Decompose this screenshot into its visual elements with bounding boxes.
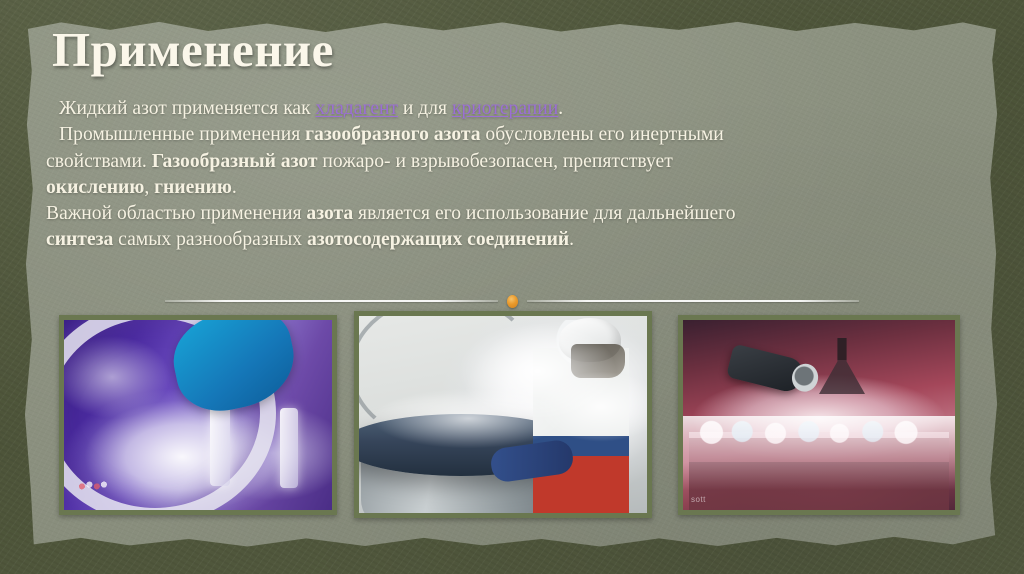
photo-1-image xyxy=(64,320,332,510)
line3-text-post: пожаро- и взрывобезопасен, препятствует xyxy=(318,151,673,172)
line6-text-mid: самых разнообразных xyxy=(113,229,307,250)
line4-text-mid: , xyxy=(144,177,154,198)
slide-content: Применение Жидкий азот применяется как х… xyxy=(0,0,1024,574)
body-line-3: свойствами. Газообразный азот пожаро- и … xyxy=(46,149,976,175)
line6-text-post: . xyxy=(569,229,574,250)
line4-emphasis-1: окислению xyxy=(46,177,144,198)
photo-nitrogen-cocktail-bar: sott xyxy=(678,315,960,515)
photo-1-watermark xyxy=(74,478,118,500)
body-line-4: окислению, гниению. xyxy=(46,175,976,201)
body-line-6: синтеза самых разнообразных азотосодержа… xyxy=(46,227,976,253)
line2-emphasis: газообразного азота xyxy=(305,124,480,145)
divider-rule-left xyxy=(165,300,498,302)
photo-3-image: sott xyxy=(683,320,955,510)
glass-flask xyxy=(819,338,865,394)
page-title: Применение xyxy=(52,24,334,75)
photo-liquid-nitrogen-pour xyxy=(59,315,337,515)
link-krioterapii[interactable]: криотерапии xyxy=(452,98,558,119)
test-tube-right xyxy=(280,408,298,488)
divider-dot-icon xyxy=(507,295,518,308)
line6-emphasis-2: азотосодержащих соединений xyxy=(307,229,569,250)
line6-emphasis-1: синтеза xyxy=(46,229,113,250)
line2-text-post: обусловлены его инертными xyxy=(481,124,724,145)
cocktail-glasses xyxy=(691,406,947,450)
line1-text-post: . xyxy=(558,98,563,119)
line1-text-mid: и для xyxy=(398,98,452,119)
line5-text-post: является его использование для дальнейше… xyxy=(353,203,735,224)
body-line-1: Жидкий азот применяется как хладагент и … xyxy=(46,96,976,122)
line3-emphasis: Газообразный азот xyxy=(152,151,318,172)
photo-2-image xyxy=(359,316,647,513)
line4-text-post: . xyxy=(232,177,237,198)
body-line-5: Важной областью применения азота являетс… xyxy=(46,201,976,227)
body-text: Жидкий азот применяется как хладагент и … xyxy=(46,96,976,254)
photo-3-watermark: sott xyxy=(691,495,706,504)
section-divider xyxy=(165,295,859,307)
face-visor xyxy=(571,344,625,378)
line4-emphasis-2: гниению xyxy=(154,177,232,198)
slide: Применение Жидкий азот применяется как х… xyxy=(0,0,1024,574)
nitrogen-canister xyxy=(726,344,806,395)
photo-industrial-cryo-tank xyxy=(354,311,652,518)
divider-rule-right xyxy=(527,300,860,302)
line5-emphasis: азота xyxy=(306,203,353,224)
line3-text-pre: свойствами. xyxy=(46,151,152,172)
line1-text-pre: Жидкий азот применяется как xyxy=(59,98,316,119)
line2-text-pre: Промышленные применения xyxy=(59,124,305,145)
link-hladagent[interactable]: хладагент xyxy=(316,98,398,119)
line5-text-pre: Важной областью применения xyxy=(46,203,306,224)
test-tube-left xyxy=(210,406,230,486)
body-line-2: Промышленные применения газообразного аз… xyxy=(46,122,976,148)
